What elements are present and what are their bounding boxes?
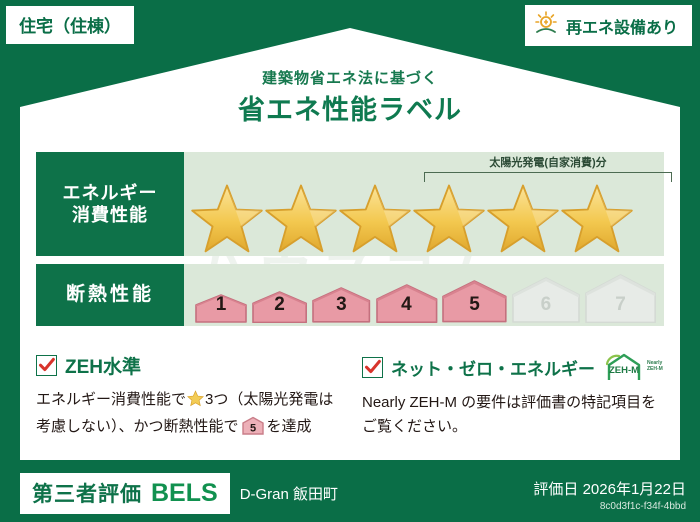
zeh-body-part1: エネルギー消費性能で bbox=[36, 391, 186, 408]
renewable-energy-badge: 再エネ設備あり bbox=[525, 5, 692, 46]
star-icon bbox=[190, 182, 264, 254]
insulation-grade-badge: 5 bbox=[441, 279, 508, 323]
insulation-row-label: 断熱性能 bbox=[36, 264, 184, 326]
energy-row-label-line1: エネルギー bbox=[63, 182, 158, 205]
zeh-m-caption-line2: ZEH-M bbox=[647, 366, 663, 372]
star-icon bbox=[560, 182, 634, 254]
renewable-badge-label: 再エネ設備あり bbox=[566, 14, 678, 38]
net-zero-energy-block: ネット・ゼロ・エネルギー ZEH-M Nearly ZEH-M Nearly Z… bbox=[362, 352, 664, 440]
zeh-body-part3: を達成 bbox=[267, 418, 312, 435]
star-rating bbox=[184, 182, 664, 254]
energy-row-body: 太陽光発電(自家消費)分 bbox=[184, 152, 664, 256]
energy-performance-label: ハウスコム 住宅（住棟） 再エネ設備あり 建築物省エネ法に基づく 省エネ性能ラベ… bbox=[0, 0, 700, 522]
svg-text:ZEH-M: ZEH-M bbox=[609, 365, 639, 376]
zeh-m-logo-icon: ZEH-M Nearly ZEH-M bbox=[603, 352, 663, 382]
category-tag: 住宅（住棟） bbox=[6, 6, 134, 44]
bels-certification-mark: 第三者評価 BELS bbox=[20, 473, 230, 514]
label-subtitle: 建築物省エネ法に基づく bbox=[0, 67, 700, 88]
check-icon bbox=[36, 355, 57, 376]
insulation-grade-value: 3 bbox=[311, 294, 371, 316]
net-zero-energy-body: Nearly ZEH-M の要件は評価書の特記項目をご覧ください。 bbox=[362, 391, 664, 440]
energy-row-label: エネルギー 消費性能 bbox=[36, 152, 184, 256]
building-name: D-Gran 飯田町 bbox=[240, 483, 338, 504]
zeh-standard-header: ZEH水準 bbox=[36, 352, 336, 379]
net-zero-energy-title: ネット・ゼロ・エネルギー bbox=[391, 355, 595, 380]
zeh-standard-title: ZEH水準 bbox=[65, 352, 141, 379]
bels-en-label: BELS bbox=[151, 479, 218, 508]
insulation-row-body: 1234567 bbox=[184, 264, 664, 326]
insulation-row-label-text: 断熱性能 bbox=[66, 283, 154, 307]
solar-bracket bbox=[424, 172, 672, 182]
footer-left: 第三者評価 BELS D-Gran 飯田町 bbox=[20, 473, 338, 514]
inline-grade-badge: 5 bbox=[241, 416, 265, 443]
insulation-grade-value: 1 bbox=[194, 294, 248, 316]
insulation-grade-badge: 1 bbox=[194, 293, 248, 323]
insulation-grade-value: 5 bbox=[441, 294, 508, 316]
svg-text:5: 5 bbox=[249, 423, 255, 435]
zeh-m-logo-caption: Nearly ZEH-M bbox=[647, 361, 663, 373]
star-icon bbox=[486, 182, 560, 254]
label-title: 省エネ性能ラベル bbox=[0, 88, 700, 127]
solar-annotation: 太陽光発電(自家消費)分 bbox=[424, 154, 672, 182]
bels-jp-label: 第三者評価 bbox=[32, 478, 142, 508]
zeh-standard-block: ZEH水準 エネルギー消費性能で3つ（太陽光発電は考慮しない）、かつ断熱性能で5… bbox=[36, 352, 336, 444]
net-zero-energy-header: ネット・ゼロ・エネルギー ZEH-M Nearly ZEH-M bbox=[362, 352, 664, 382]
star-icon bbox=[264, 182, 338, 254]
energy-row-label-line2: 消費性能 bbox=[72, 204, 148, 227]
zeh-standard-body: エネルギー消費性能で3つ（太陽光発電は考慮しない）、かつ断熱性能で5を達成 bbox=[36, 388, 336, 444]
star-icon bbox=[412, 182, 486, 254]
footer-right: 評価日 2026年1月22日 8c0d3f1c-f34f-4bbd bbox=[533, 478, 686, 512]
inline-star-icon bbox=[187, 390, 204, 415]
insulation-grade-value: 4 bbox=[375, 294, 439, 316]
evaluation-date: 評価日 2026年1月22日 bbox=[533, 478, 686, 499]
insulation-grade-value: 6 bbox=[511, 294, 581, 316]
energy-consumption-row: エネルギー 消費性能 太陽光発電(自家消費)分 bbox=[36, 152, 664, 256]
insulation-grade-badge: 3 bbox=[311, 286, 371, 323]
insulation-grade-badge: 6 bbox=[511, 276, 581, 323]
evaluation-id: 8c0d3f1c-f34f-4bbd bbox=[533, 501, 686, 512]
insulation-grade-badge: 2 bbox=[251, 290, 308, 323]
insulation-grade-badge: 7 bbox=[584, 273, 657, 323]
insulation-grade-value: 2 bbox=[251, 294, 308, 316]
check-icon bbox=[362, 357, 383, 378]
insulation-performance-row: 断熱性能 1234567 bbox=[36, 264, 664, 326]
insulation-grade-scale: 1234567 bbox=[194, 273, 657, 323]
star-icon bbox=[338, 182, 412, 254]
insulation-grade-badge: 4 bbox=[375, 283, 439, 323]
insulation-grade-value: 7 bbox=[584, 294, 657, 316]
solar-annotation-label: 太陽光発電(自家消費)分 bbox=[424, 154, 672, 170]
solar-sun-icon bbox=[533, 10, 559, 41]
